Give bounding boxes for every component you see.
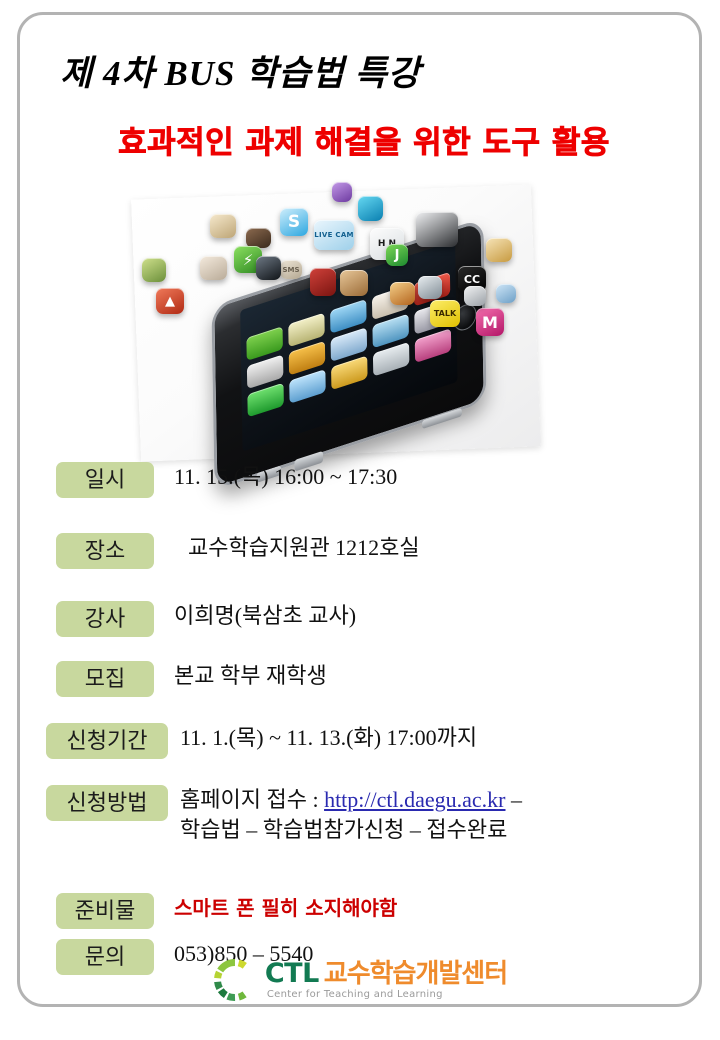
info-row-instructor: 강사 이희명(북삼초 교사) [0,601,720,637]
ctl-arc-logo-icon [213,958,257,1002]
label-instructor: 강사 [56,601,154,637]
value-date: 11. 15.(목) 16:00 ~ 17:30 [154,462,720,492]
poster-canvas: 제 4차 BUS 학습법 특강 효과적인 과제 해결을 위한 도구 활용 [0,0,720,1040]
app-icon-gallery [142,258,166,282]
value-audience: 본교 학부 재학생 [154,661,720,691]
value-requirements: 스마트 폰 필히 소지해야함 [154,893,720,923]
value-place: 교수학습지원관 1212호실 [154,533,720,563]
ctl-logo-main-row: CTL 교수학습개발센터 [265,960,507,987]
info-row-place: 장소 교수학습지원관 1212호실 [0,533,720,569]
info-row-date: 일시 11. 15.(목) 16:00 ~ 17:30 [0,462,720,498]
ctl-website-link[interactable]: http://ctl.daegu.ac.kr [324,787,505,812]
info-row-requirements: 준비물 스마트 폰 필히 소지해야함 [0,893,720,929]
info-row-application-method: 신청방법 홈페이지 접수 : http://ctl.daegu.ac.kr – … [0,785,720,845]
ctl-logo: CTL 교수학습개발센터 Center for Teaching and Lea… [0,958,720,1002]
app-icon-chart: ▲ [156,288,184,314]
value-application-method: 홈페이지 접수 : http://ctl.daegu.ac.kr – 학습법 –… [168,785,720,845]
app-icon-kakaotalk: TALK [430,300,460,327]
app-icon-camera [246,228,271,248]
app-icon-silver [464,286,486,306]
value-application-period: 11. 1.(목) ~ 11. 13.(화) 17:00까지 [168,723,720,753]
label-application-method: 신청방법 [46,785,168,821]
app-icon-video [358,196,383,221]
app-icon-melon: M [476,308,504,336]
poster-subtitle: 제 4차 BUS 학습법 특강 [60,52,660,96]
app-icon-music [210,214,236,238]
info-row-audience: 모집 본교 학부 재학생 [0,661,720,697]
value-instructor: 이희명(북삼초 교사) [154,601,720,631]
ctl-logo-text: CTL 교수학습개발센터 Center for Teaching and Lea… [265,960,507,1000]
app-icon-keyboard [416,212,458,247]
app-icon-brain [340,270,368,296]
ctl-logo-acronym: CTL [265,960,319,987]
app-icon-photos [418,276,442,299]
hero-photo: ▲ ⚡ S SMS LIVE CAM H N J CC TALK M [128,178,548,468]
label-requirements: 준비물 [56,893,154,929]
app-icon-purple [332,182,352,202]
app-icon-skype: S [280,208,308,236]
application-method-prefix: 홈페이지 접수 : [180,787,324,812]
info-rows: 일시 11. 15.(목) 16:00 ~ 17:30 장소 교수학습지원관 1… [0,462,720,975]
ctl-logo-korean-name: 교수학습개발센터 [324,961,507,987]
app-icon-safari [256,256,281,280]
app-icon-blue-small [496,284,516,303]
app-icon-sms: SMS [280,260,302,279]
label-place: 장소 [56,533,154,569]
poster-headline: 효과적인 과제 해결을 위한 도구 활용 [54,120,674,166]
app-icon-food [390,282,415,305]
app-icon-naver-green: J [386,244,408,266]
app-icon-gold [486,238,512,262]
label-audience: 모집 [56,661,154,697]
app-icon-red-cross [310,268,336,296]
app-icon-live-cam: LIVE CAM [314,220,354,250]
ctl-logo-tagline: Center for Teaching and Learning [265,990,507,1000]
info-row-application-period: 신청기간 11. 1.(목) ~ 11. 13.(화) 17:00까지 [0,723,720,759]
label-application-period: 신청기간 [46,723,168,759]
label-date: 일시 [56,462,154,498]
app-icon-folder [200,256,227,280]
